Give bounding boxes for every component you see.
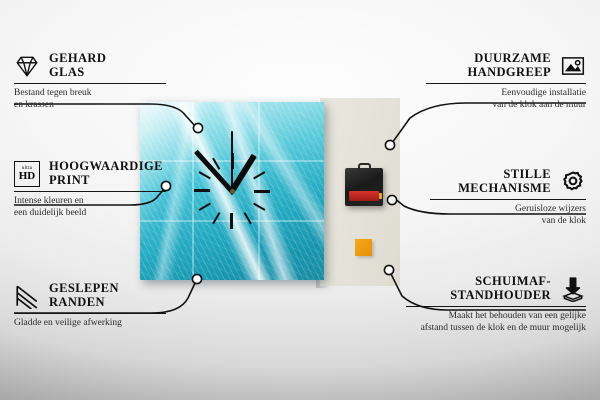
mechanism-hook xyxy=(358,163,371,171)
feature-title-line2: PRINT xyxy=(49,174,163,188)
divider xyxy=(14,313,166,314)
feature-desc: Eenvoudige installatie van de klok aan d… xyxy=(426,88,586,111)
wall-clock xyxy=(140,102,324,280)
feature-geslepen-randen: GESLEPEN RANDEN Gladde en veilige afwerk… xyxy=(14,282,166,330)
divider xyxy=(14,191,166,192)
clock-dial xyxy=(140,102,324,280)
feature-title-line2: STANDHOUDER xyxy=(450,289,551,303)
feature-title-line2: GLAS xyxy=(49,66,106,80)
infographic-canvas: GEHARD GLAS Bestand tegen breuk en krass… xyxy=(0,0,600,400)
divider xyxy=(430,199,586,200)
feature-desc: Gladde en veilige afwerking xyxy=(14,318,166,330)
feature-duurzame-handgreep: DUURZAME HANDGREEP Eenvoudige installati… xyxy=(426,52,586,111)
diamond-icon xyxy=(14,53,40,79)
feature-desc: Geruisloze wijzers van de klok xyxy=(430,204,586,227)
product-photo xyxy=(140,96,400,286)
foam-spacer xyxy=(355,239,372,256)
feature-title-line1: GEHARD xyxy=(49,52,106,66)
feature-title-line2: RANDEN xyxy=(49,296,119,310)
ultra-hd-icon-bottom: HD xyxy=(19,171,36,182)
divider xyxy=(426,83,586,84)
clock-mechanism xyxy=(345,168,383,206)
feature-desc: Intense kleuren en een duidelijk beeld xyxy=(14,196,166,219)
clock-center-pin xyxy=(230,189,235,194)
feature-title-line1: HOOGWAARDIGE xyxy=(49,160,163,174)
clock-hand-second xyxy=(231,131,233,195)
feature-gehard-glas: GEHARD GLAS Bestand tegen breuk en krass… xyxy=(14,52,166,111)
feature-hoogwaardige-print: ultra HD HOOGWAARDIGE PRINT Intense kleu… xyxy=(14,160,166,219)
divider xyxy=(406,306,586,307)
diagonal-lines-icon xyxy=(14,283,40,309)
gear-icon xyxy=(560,169,586,195)
ultra-hd-icon: ultra HD xyxy=(14,161,40,187)
stamp-down-arrow-icon xyxy=(560,276,586,302)
feature-title-line1: GESLEPEN xyxy=(49,282,119,296)
feature-desc: Bestand tegen breuk en krassen xyxy=(14,88,166,111)
feature-title-line2: MECHANISME xyxy=(458,182,551,196)
feature-title-line1: STILLE xyxy=(458,168,551,182)
feature-title-line1: DUURZAME xyxy=(468,52,551,66)
feature-schuimaf-standhouder: SCHUIMAF- STANDHOUDER Maakt het behouden… xyxy=(406,275,586,334)
battery xyxy=(349,191,379,201)
feature-desc: Maakt het behouden van een gelijke afsta… xyxy=(406,311,586,334)
divider xyxy=(14,83,166,84)
feature-stille-mechanisme: STILLE MECHANISME Geruisloze wijzers van… xyxy=(430,168,586,227)
picture-frame-icon xyxy=(560,53,586,79)
feature-title-line1: SCHUIMAF- xyxy=(450,275,551,289)
feature-title-line2: HANDGREEP xyxy=(468,66,551,80)
